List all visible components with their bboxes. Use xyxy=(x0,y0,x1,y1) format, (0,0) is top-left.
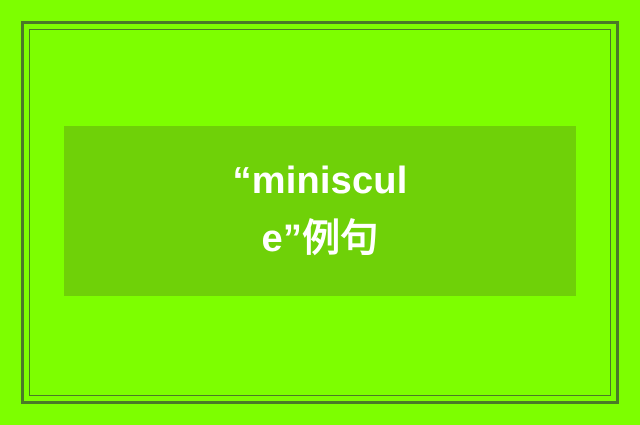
banner-title: “miniscule”例句 xyxy=(215,153,425,269)
title-band: “miniscule”例句 xyxy=(64,126,576,296)
banner-canvas: “miniscule”例句 xyxy=(0,0,640,425)
